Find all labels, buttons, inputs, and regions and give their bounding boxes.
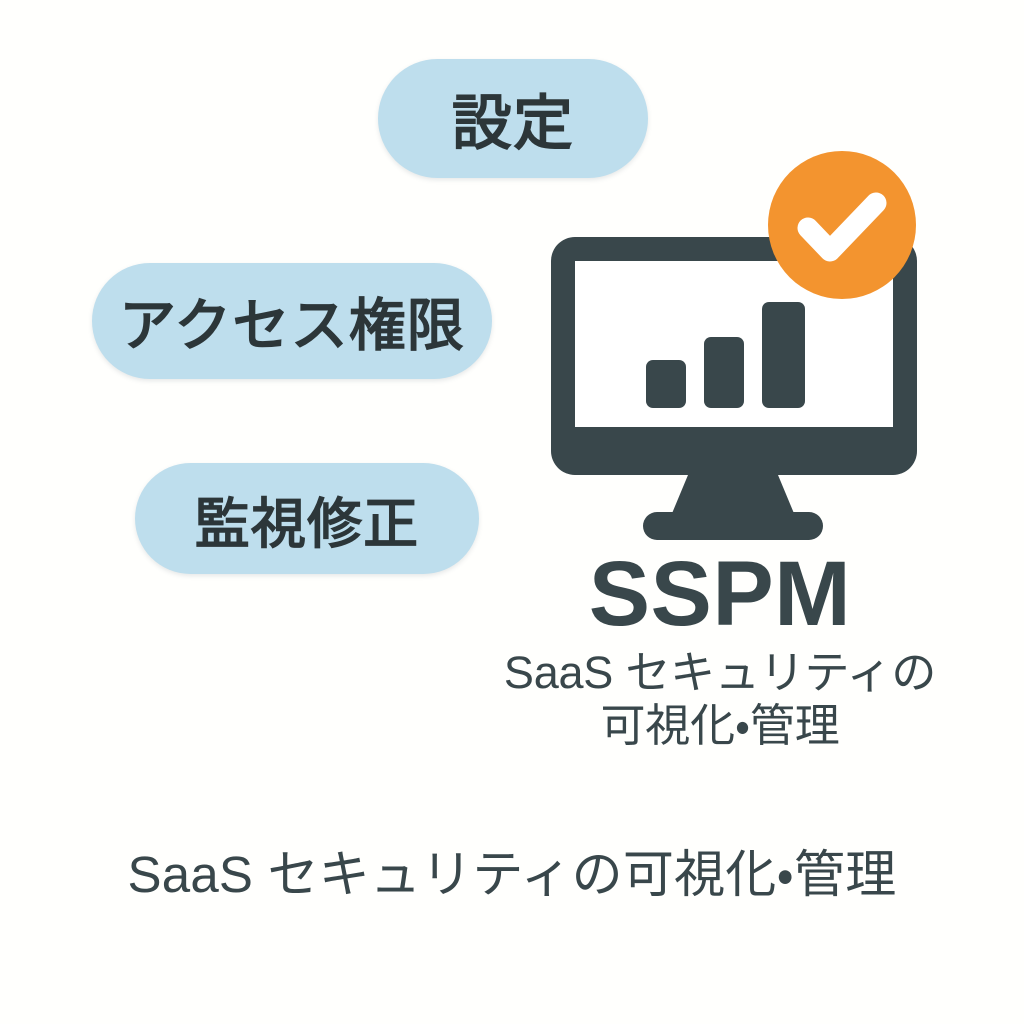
infographic-canvas: 設定 アクセス権限 監視修正 SSPM SaaS セキュリ	[0, 0, 1024, 1024]
pill-access-permissions-label: アクセス権限	[119, 280, 465, 362]
brand-title: SSPM	[470, 548, 970, 642]
brand-subtitle: SaaS セキュリティの 可視化・管理	[470, 646, 970, 752]
brand-block: SSPM SaaS セキュリティの 可視化・管理	[470, 548, 970, 752]
pill-monitoring-remediation-label: 監視修正	[195, 479, 419, 559]
bar-1	[646, 360, 686, 408]
orange-check-badge-icon	[768, 151, 916, 299]
bar-3	[762, 302, 805, 408]
brand-subtitle-line-1: SaaS セキュリティの	[470, 646, 970, 699]
monitor-with-bar-chart-icon	[538, 140, 928, 540]
brand-subtitle-line-2: 可視化・管理	[470, 699, 970, 752]
bar-2	[704, 337, 744, 408]
monitor-stand-base	[643, 512, 823, 540]
pill-access-permissions[interactable]: アクセス権限	[92, 263, 492, 379]
bottom-caption: SaaS セキュリティの可視化・管理	[0, 833, 1024, 907]
pill-monitoring-remediation[interactable]: 監視修正	[135, 463, 479, 574]
